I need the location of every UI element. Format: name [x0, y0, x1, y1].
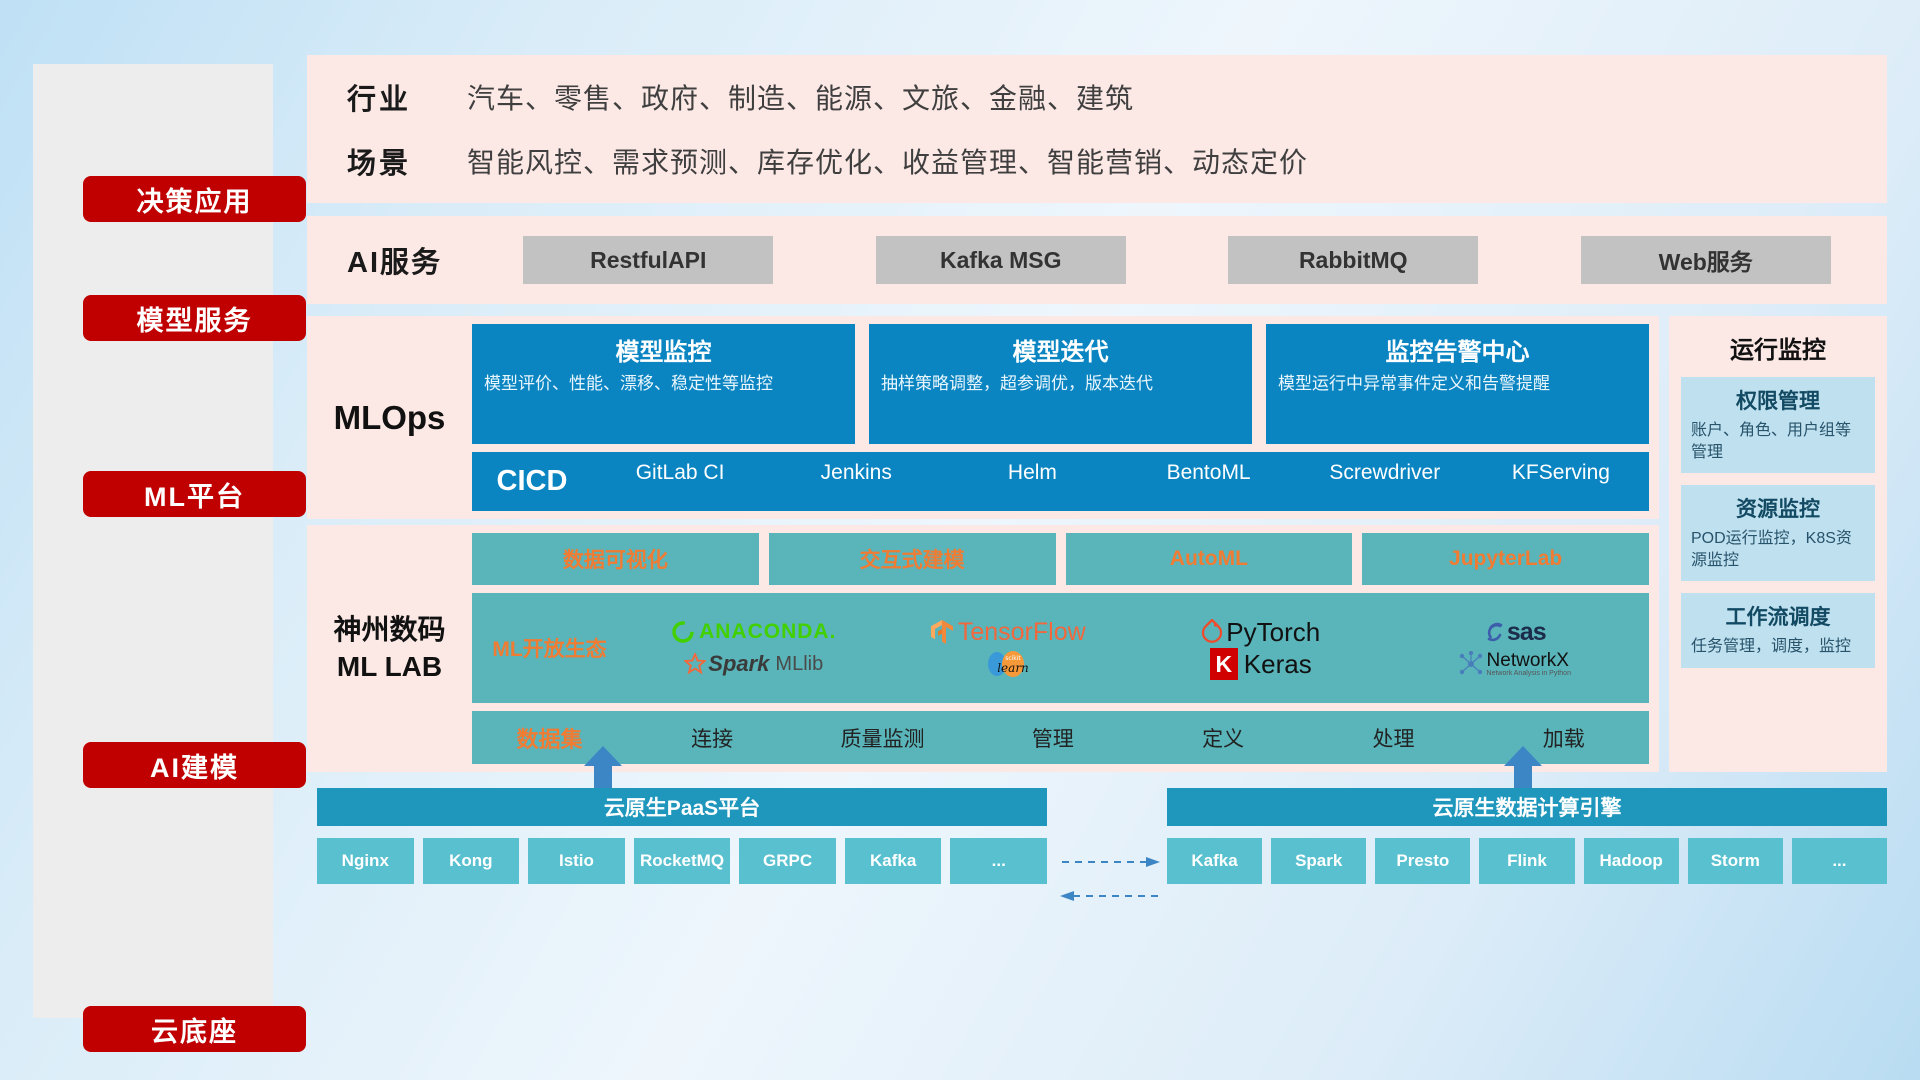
engine-chip-kafka[interactable]: Kafka [1167, 838, 1262, 884]
cicd-item-jenkins[interactable]: Jenkins [768, 460, 944, 502]
card-title: 模型迭代 [881, 332, 1240, 367]
engine-chip-spark[interactable]: Spark [1271, 838, 1366, 884]
card-desc: POD运行监控，K8S资源监控 [1691, 528, 1865, 571]
networkx-label: NetworkX [1487, 651, 1571, 670]
ml-ecosystem-row: ML开放生态 ANACONDA. [472, 593, 1649, 703]
dataset-item-connect[interactable]: 连接 [627, 723, 797, 753]
mlops-card-model-monitoring[interactable]: 模型监控 模型评价、性能、漂移、稳定性等监控 [472, 324, 855, 444]
engine-chip-flink[interactable]: Flink [1479, 838, 1574, 884]
mlops-card-model-iteration[interactable]: 模型迭代 抽样策略调整，超参调优，版本迭代 [869, 324, 1252, 444]
service-chip-kafka-msg[interactable]: Kafka MSG [876, 236, 1126, 284]
card-desc: 模型运行中异常事件定义和告警提醒 [1278, 373, 1637, 396]
business-key: 行业 [347, 76, 467, 118]
ml-lab-label: 神州数码 ML LAB [307, 612, 472, 685]
dataset-row: 数据集 连接 质量监测 管理 定义 处理 加载 [472, 711, 1649, 764]
tool-automl[interactable]: AutoML [1066, 533, 1353, 585]
cicd-item-gitlab-ci[interactable]: GitLab CI [592, 460, 768, 502]
arrow-up-data-engine-icon [1502, 746, 1544, 790]
paas-group: 云原生PaaS平台 Nginx Kong Istio RocketMQ GRPC… [317, 788, 1047, 884]
cicd-item-helm[interactable]: Helm [944, 460, 1120, 502]
rail-label-text: 决策应用 [137, 180, 253, 219]
tensorflow-icon: TensorFlow [929, 618, 1086, 647]
mlops-card-alert-center[interactable]: 监控告警中心 模型运行中异常事件定义和告警提醒 [1266, 324, 1649, 444]
rail-label-text: AI建模 [150, 746, 239, 785]
keras-mark: K [1210, 648, 1238, 680]
svg-text:learn: learn [997, 661, 1029, 675]
ai-service-label: AI服务 [347, 239, 467, 281]
architecture-diagram: 决策应用 模型服务 ML平台 AI建模 云底座 行业 汽车、零售、政府、制造、能… [0, 0, 1920, 1080]
card-title: 资源监控 [1691, 493, 1865, 523]
dataset-item-manage[interactable]: 管理 [968, 723, 1138, 753]
ai-service-band: AI服务 RestfulAPI Kafka MSG RabbitMQ Web服务 [307, 216, 1887, 304]
bidirectional-link-icon [1060, 848, 1160, 908]
data-engine-group: 云原生数据计算引擎 Kafka Spark Presto Flink Hadoo… [1167, 788, 1887, 884]
ai-modeling-band: 神州数码 ML LAB 数据可视化 交互式建模 AutoML JupyterLa… [307, 525, 1659, 772]
card-title: 模型监控 [484, 332, 843, 367]
rail-item-ml-platform[interactable]: ML平台 [83, 471, 306, 517]
business-value: 智能风控、需求预测、库存优化、收益管理、智能营销、动态定价 [467, 141, 1308, 181]
ml-ecosystem-label: ML开放生态 [472, 633, 627, 663]
keras-icon: K Keras [1210, 648, 1312, 680]
tool-jupyterlab[interactable]: JupyterLab [1362, 533, 1649, 585]
card-desc: 账户、角色、用户组等管理 [1691, 420, 1865, 463]
paas-chip-rocketmq[interactable]: RocketMQ [634, 838, 731, 884]
rail-item-ai-modeling[interactable]: AI建模 [83, 742, 306, 788]
card-desc: 抽样策略调整，超参调优，版本迭代 [881, 373, 1240, 396]
cicd-row: CICD GitLab CI Jenkins Helm BentoML Scre… [472, 452, 1649, 511]
engine-chip-presto[interactable]: Presto [1375, 838, 1470, 884]
business-key: 场景 [347, 140, 467, 182]
business-row-industry: 行业 汽车、零售、政府、制造、能源、文旅、金融、建筑 [347, 76, 1887, 118]
dataset-item-process[interactable]: 处理 [1308, 723, 1478, 753]
paas-title: 云原生PaaS平台 [317, 788, 1047, 826]
paas-chip-istio[interactable]: Istio [528, 838, 625, 884]
anaconda-icon: ANACONDA. [671, 620, 836, 644]
pytorch-icon: PyTorch [1201, 617, 1320, 648]
keras-label: Keras [1244, 649, 1312, 680]
sas-label: sas [1507, 618, 1546, 647]
cicd-item-screwdriver[interactable]: Screwdriver [1297, 460, 1473, 502]
rail-item-cloud-base[interactable]: 云底座 [83, 1006, 306, 1052]
paas-chip-kafka[interactable]: Kafka [845, 838, 942, 884]
dataset-item-quality-monitor[interactable]: 质量监测 [797, 723, 967, 753]
ml-lab-label-line1: 神州数码 [307, 612, 472, 648]
networkx-tagline: Network Analysis in Python [1487, 670, 1571, 677]
business-row-scenario: 场景 智能风控、需求预测、库存优化、收益管理、智能营销、动态定价 [347, 140, 1887, 182]
mlops-label: MLOps [307, 399, 472, 437]
layer-rail: 决策应用 模型服务 ML平台 AI建模 云底座 [33, 64, 273, 1018]
spark-mllib-icon: Spark MLlib [684, 651, 823, 677]
engine-chip-hadoop[interactable]: Hadoop [1584, 838, 1679, 884]
cicd-item-kfserving[interactable]: KFServing [1473, 460, 1649, 502]
service-chip-web[interactable]: Web服务 [1581, 236, 1831, 284]
paas-chip-grpc[interactable]: GRPC [739, 838, 836, 884]
monitor-card-permission[interactable]: 权限管理 账户、角色、用户组等管理 [1681, 377, 1875, 473]
card-desc: 任务管理，调度，监控 [1691, 636, 1865, 658]
arrow-up-paas-icon [582, 746, 624, 790]
paas-chip-kong[interactable]: Kong [423, 838, 520, 884]
tool-interactive-modeling[interactable]: 交互式建模 [769, 533, 1056, 585]
scikit-learn-icon: scikit learn [984, 649, 1030, 679]
tensorflow-label: TensorFlow [958, 618, 1086, 647]
spark-label: Spark [708, 651, 769, 677]
data-engine-title: 云原生数据计算引擎 [1167, 788, 1887, 826]
business-value: 汽车、零售、政府、制造、能源、文旅、金融、建筑 [467, 77, 1134, 117]
rail-item-decision-app[interactable]: 决策应用 [83, 176, 306, 222]
rail-label-text: 云底座 [151, 1010, 238, 1049]
rail-item-model-service[interactable]: 模型服务 [83, 295, 306, 341]
runtime-monitor-panel: 运行监控 权限管理 账户、角色、用户组等管理 资源监控 POD运行监控，K8S资… [1669, 316, 1887, 772]
card-desc: 模型评价、性能、漂移、稳定性等监控 [484, 373, 843, 396]
engine-chip-more[interactable]: ... [1792, 838, 1887, 884]
service-chip-restfulapi[interactable]: RestfulAPI [523, 236, 773, 284]
service-chip-rabbitmq[interactable]: RabbitMQ [1228, 236, 1478, 284]
cicd-label: CICD [472, 465, 592, 498]
tool-data-visualization[interactable]: 数据可视化 [472, 533, 759, 585]
networkx-icon: NetworkX Network Analysis in Python [1458, 651, 1571, 677]
cloud-base-layer: 云原生PaaS平台 Nginx Kong Istio RocketMQ GRPC… [307, 788, 1887, 1078]
card-title: 监控告警中心 [1278, 332, 1637, 367]
card-title: 权限管理 [1691, 385, 1865, 415]
card-title: 工作流调度 [1691, 601, 1865, 631]
paas-chip-nginx[interactable]: Nginx [317, 838, 414, 884]
paas-chip-more[interactable]: ... [950, 838, 1047, 884]
dataset-item-define[interactable]: 定义 [1138, 723, 1308, 753]
mllib-label: MLlib [775, 653, 823, 676]
pytorch-label: PyTorch [1226, 617, 1320, 648]
business-band: 行业 汽车、零售、政府、制造、能源、文旅、金融、建筑 场景 智能风控、需求预测、… [307, 55, 1887, 203]
ml-lab-label-line2: ML LAB [307, 649, 472, 685]
mlops-band: MLOps 模型监控 模型评价、性能、漂移、稳定性等监控 模型迭代 抽样策略调整… [307, 316, 1659, 519]
runtime-monitor-title: 运行监控 [1681, 330, 1875, 365]
monitor-card-workflow[interactable]: 工作流调度 任务管理，调度，监控 [1681, 593, 1875, 668]
engine-chip-storm[interactable]: Storm [1688, 838, 1783, 884]
monitor-card-resource[interactable]: 资源监控 POD运行监控，K8S资源监控 [1681, 485, 1875, 581]
rail-label-text: ML平台 [144, 475, 245, 514]
anaconda-label: ANACONDA. [699, 620, 836, 644]
cicd-item-bentoml[interactable]: BentoML [1121, 460, 1297, 502]
sas-icon: sas [1483, 618, 1546, 647]
rail-label-text: 模型服务 [137, 299, 253, 338]
